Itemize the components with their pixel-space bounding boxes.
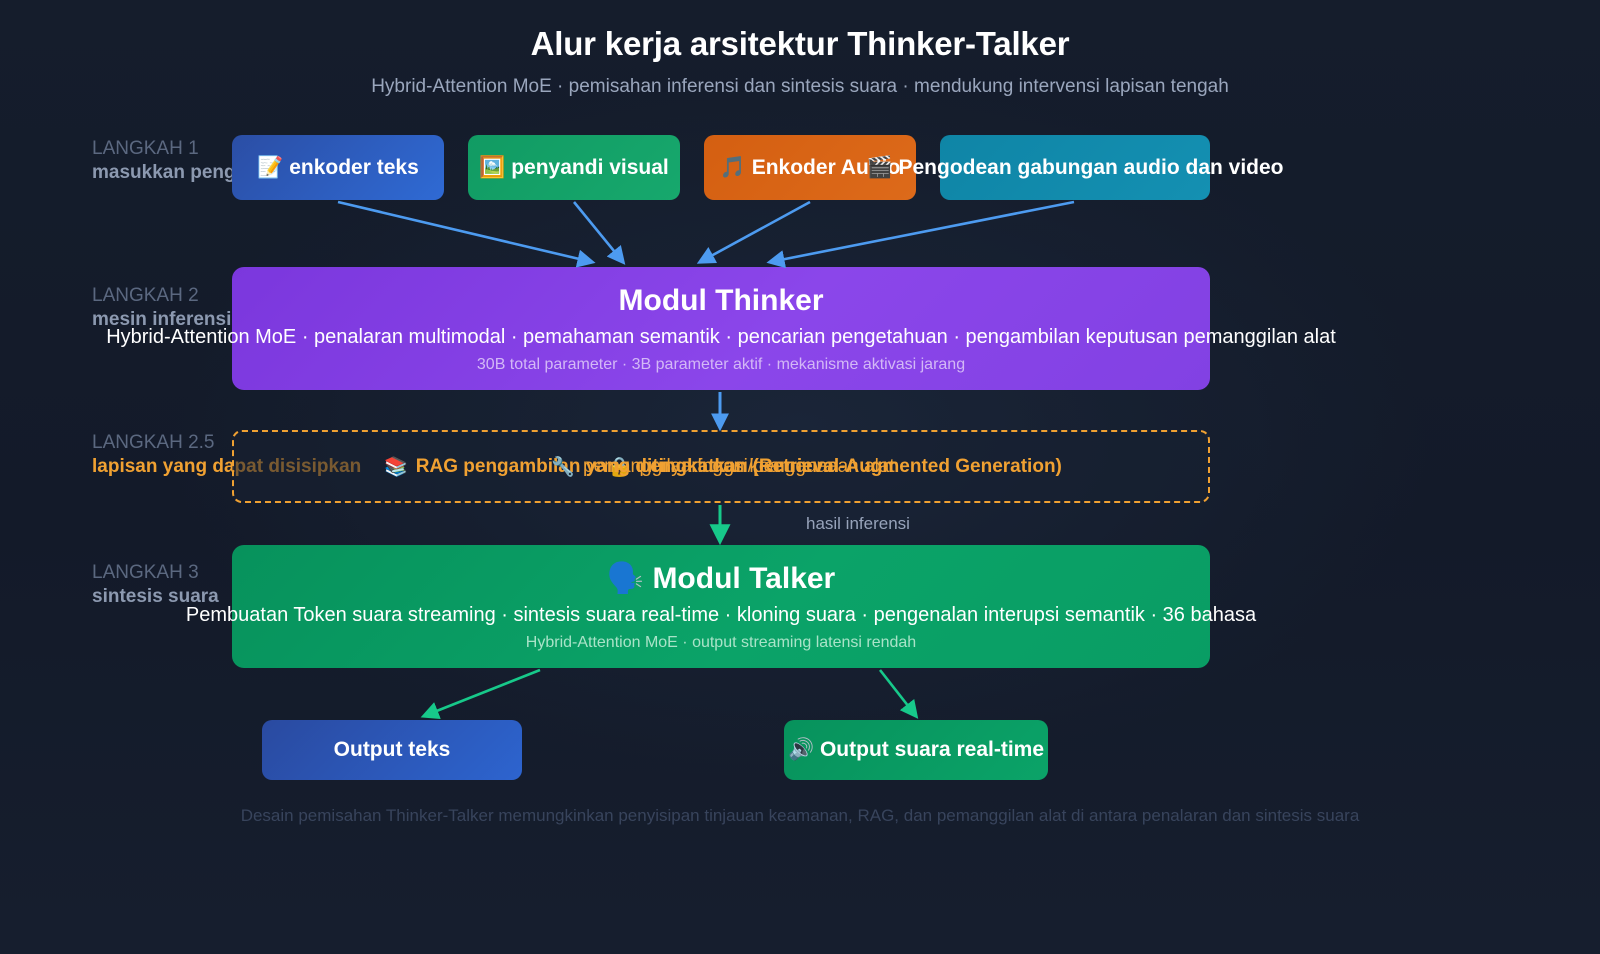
output-voice-label: Output suara real-time — [820, 738, 1044, 761]
vision-encoder-label: penyandi visual — [511, 156, 669, 179]
node-talker-module[interactable]: 🗣️ Modul Talker Pembuatan Token suara st… — [232, 545, 1210, 668]
node-middle-layer[interactable]: 🔒 penyaringan keamanan 📚 RAG pengambilan… — [232, 430, 1210, 503]
node-thinker-module[interactable]: Modul Thinker Hybrid-Attention MoE · pen… — [232, 267, 1210, 390]
speaker-icon: 🔊 — [788, 738, 814, 761]
talker-features: Pembuatan Token suara streaming · sintes… — [186, 604, 1256, 627]
node-audio-video-encoder[interactable]: 🎬 Pengodean gabungan audio dan video — [940, 135, 1210, 200]
diagram-canvas: Alur kerja arsitektur Thinker-Talker Hyb… — [0, 0, 1600, 954]
node-output-text[interactable]: Output teks — [262, 720, 522, 780]
middle-chip-tooluse-label: pemanggilan fungsi/penggunaan alat — [583, 456, 895, 478]
thinker-meta: 30B total parameter · 3B parameter aktif… — [477, 356, 965, 374]
middle-chip-tooluse[interactable]: 🔧 pemanggilan fungsi/penggunaan alat — [234, 432, 1212, 501]
talker-meta: Hybrid-Attention MoE · output streaming … — [526, 634, 916, 652]
page-subtitle: Hybrid-Attention MoE · pemisahan inferen… — [0, 76, 1600, 98]
text-encoder-label: enkoder teks — [289, 156, 419, 179]
edge-label-inference-result: hasil inferensi — [806, 514, 910, 534]
talker-to-outputs-arrows — [424, 670, 916, 716]
audio-video-encoder-label: Pengodean gabungan audio dan video — [898, 156, 1283, 179]
footer-note: Desain pemisahan Thinker-Talker memungki… — [0, 806, 1600, 826]
page-title: Alur kerja arsitektur Thinker-Talker — [0, 25, 1600, 63]
clapper-board-icon: 🎬 — [866, 156, 892, 179]
output-text-label: Output teks — [334, 738, 451, 762]
speaking-head-icon: 🗣️ — [607, 562, 644, 595]
music-note-icon: 🎵 — [720, 156, 746, 179]
memo-icon: 📝 — [257, 156, 283, 179]
thinker-features: Hybrid-Attention MoE · penalaran multimo… — [106, 326, 1336, 349]
picture-icon: 🖼️ — [479, 156, 505, 179]
node-vision-encoder[interactable]: 🖼️ penyandi visual — [468, 135, 680, 200]
node-output-voice[interactable]: 🔊 Output suara real-time — [784, 720, 1048, 780]
node-text-encoder[interactable]: 📝 enkoder teks — [232, 135, 444, 200]
thinker-title: Modul Thinker — [619, 284, 824, 317]
encoder-to-thinker-arrows — [338, 202, 1074, 262]
wrench-icon: 🔧 — [551, 455, 575, 479]
talker-title: Modul Talker — [652, 562, 835, 595]
